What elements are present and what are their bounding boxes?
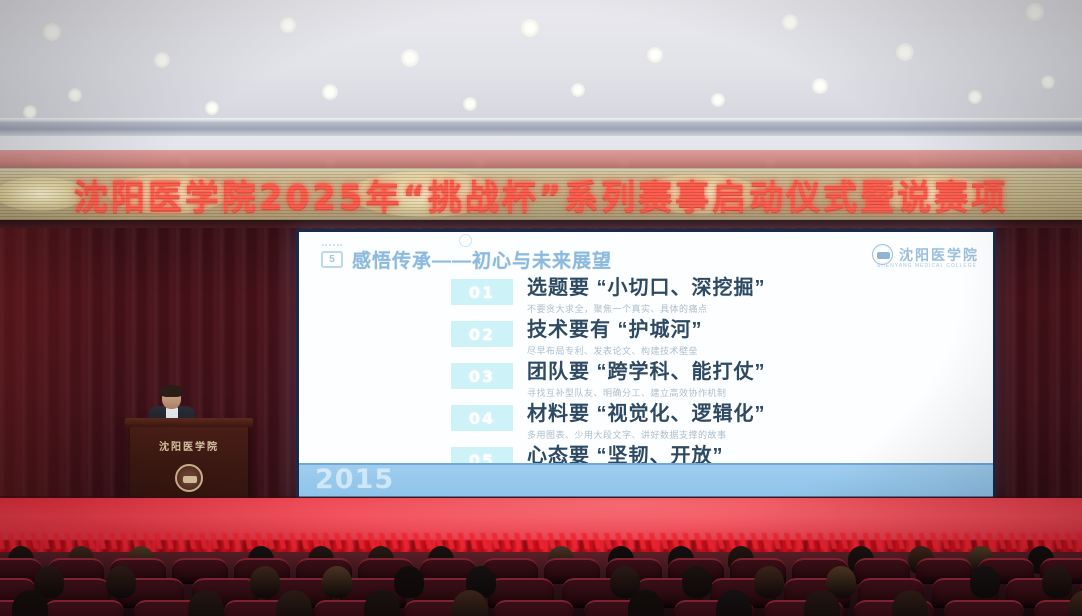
presentation-slide: 5 感悟传承——初心与未来展望 沈阳医学院 SHENYANG MEDICAL C…: [299, 232, 993, 497]
ceiling-spotlight: [571, 83, 585, 97]
ceiling-spotlight: [896, 43, 914, 61]
school-seal-icon: [872, 244, 893, 265]
list-item-number-badge: 01: [451, 279, 513, 305]
ceiling-spotlight: [463, 97, 477, 111]
podium-top-surface: [125, 418, 253, 427]
slide-bullet-list: 01选题要 “小切口、深挖掘”不要贪大求全，聚焦一个真实、具体的痛点02技术要有…: [299, 278, 993, 488]
list-item-text-block: 材料要 “视觉化、逻辑化”多用图表、少用大段文字、讲好数据支撑的故事: [527, 402, 766, 441]
slide-header: 5 感悟传承——初心与未来展望: [321, 246, 612, 273]
audience-member: [682, 566, 712, 598]
list-item-text-block: 技术要有 “护城河”尽早布局专利、发表论文、构建技术壁垒: [527, 318, 703, 357]
ceiling-spotlight: [154, 52, 170, 68]
ceiling-spotlight: [43, 23, 61, 41]
slide-list-item: 02技术要有 “护城河”尽早布局专利、发表论文、构建技术壁垒: [299, 320, 993, 362]
led-banner: 沈阳医学院2025年“挑战杯”系列赛事启动仪式暨说赛项: [0, 168, 1082, 220]
auditorium-seat: [944, 600, 1024, 616]
ceiling-spotlight: [205, 101, 219, 115]
list-item-subtitle: 尽早布局专利、发表论文、构建技术壁垒: [527, 344, 703, 357]
list-item-subtitle: 不要贪大求全，聚焦一个真实、具体的痛点: [527, 302, 766, 315]
ceiling-spotlight: [812, 78, 828, 94]
school-logo-pinyin: SHENYANG MEDICAL COLLEGE: [877, 263, 977, 269]
ceiling-spotlight: [1026, 3, 1044, 21]
projection-screen-frame: 5 感悟传承——初心与未来展望 沈阳医学院 SHENYANG MEDICAL C…: [296, 229, 996, 500]
list-item-number-badge: 02: [451, 321, 513, 347]
ceiling-spotlight: [280, 17, 296, 33]
ceiling-reveal-band: [0, 122, 1082, 136]
ceiling-spotlight: [711, 93, 725, 107]
projection-screen: 5 感悟传承——初心与未来展望 沈阳医学院 SHENYANG MEDICAL C…: [299, 232, 993, 497]
slide-footer-band: [299, 465, 993, 497]
list-item-title: 技术要有 “护城河”: [527, 318, 703, 343]
list-item-title: 团队要 “跨学科、能打仗”: [527, 360, 766, 385]
slide-title: 感悟传承——初心与未来展望: [352, 246, 612, 273]
slide-watermark: 2015: [315, 464, 394, 495]
slide-list-item: 01选题要 “小切口、深挖掘”不要贪大求全，聚焦一个真实、具体的痛点: [299, 278, 993, 320]
ceiling-spotlight: [1041, 75, 1055, 89]
audience-member: [250, 566, 280, 598]
ceiling-spotlight: [782, 14, 798, 30]
audience-area: [0, 552, 1082, 616]
ceiling-spotlight: [968, 90, 982, 104]
list-item-title: 材料要 “视觉化、逻辑化”: [527, 402, 766, 427]
audience-member: [970, 566, 1000, 598]
list-item-subtitle: 寻找互补型队友、明确分工、建立高效协作机制: [527, 386, 766, 399]
slide-list-item: 04材料要 “视觉化、逻辑化”多用图表、少用大段文字、讲好数据支撑的故事: [299, 404, 993, 446]
slide-list-item: 03团队要 “跨学科、能打仗”寻找互补型队友、明确分工、建立高效协作机制: [299, 362, 993, 404]
ceiling-spotlight: [23, 105, 37, 119]
auditorium-photo: 沈阳医学院2025年“挑战杯”系列赛事启动仪式暨说赛项 5 感悟传承——初心与未…: [0, 0, 1082, 616]
audience-member: [106, 566, 136, 598]
list-item-title: 选题要 “小切口、深挖掘”: [527, 276, 766, 301]
ceiling-spotlight: [647, 47, 663, 63]
list-item-number-badge: 04: [451, 405, 513, 431]
podium: 沈阳医学院: [130, 424, 248, 504]
curtain-light-wash: [0, 228, 120, 503]
speaker-hair: [160, 385, 183, 397]
list-item-text-block: 选题要 “小切口、深挖掘”不要贪大求全，聚焦一个真实、具体的痛点: [527, 276, 766, 315]
school-logo-text: 沈阳医学院: [899, 245, 979, 265]
list-item-text-block: 团队要 “跨学科、能打仗”寻找互补型队友、明确分工、建立高效协作机制: [527, 360, 766, 399]
ceiling-spotlight: [322, 84, 338, 100]
list-item-subtitle: 多用图表、少用大段文字、讲好数据支撑的故事: [527, 428, 766, 441]
ceiling-spotlight: [68, 88, 82, 102]
ceiling-spotlight: [401, 49, 419, 67]
podium-seal-icon: [175, 464, 203, 492]
section-marker-icon: 5: [321, 251, 343, 268]
list-item-number-badge: 03: [451, 363, 513, 389]
led-banner-text: 沈阳医学院2025年“挑战杯”系列赛事启动仪式暨说赛项: [0, 168, 1082, 220]
auditorium-seat: [44, 600, 124, 616]
audience-member: [754, 566, 784, 598]
podium-name-plate: 沈阳医学院: [130, 438, 248, 453]
school-logo: 沈阳医学院: [872, 244, 979, 265]
auditorium-seat: [494, 600, 574, 616]
ceiling-spotlight: [521, 19, 539, 37]
audience-member: [322, 566, 352, 598]
audience-member: [394, 566, 424, 598]
audience-member: [1042, 566, 1072, 598]
